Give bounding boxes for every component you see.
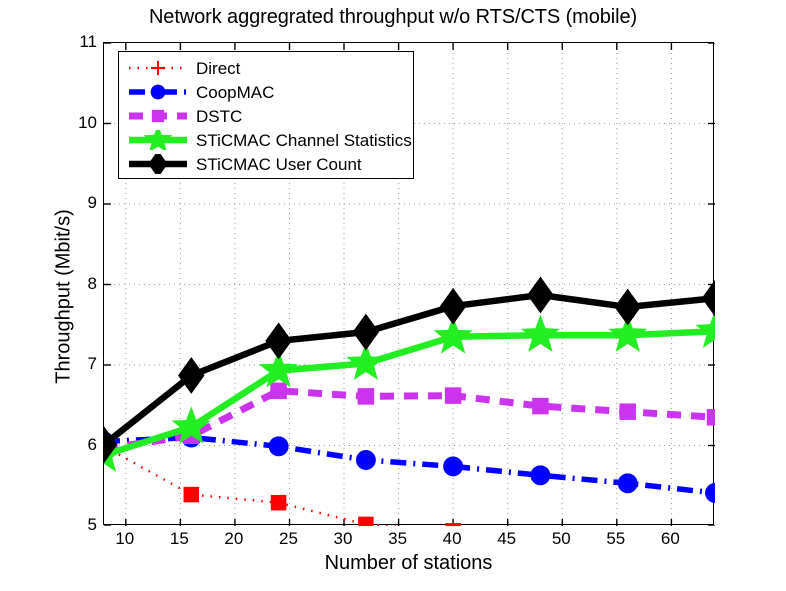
x-tick-label: 30 [323,529,363,548]
data-point-marker [149,154,167,174]
x-tick-label: 15 [159,529,199,548]
chart-legend: DirectCoopMACDSTCSTiCMAC Channel Statist… [118,51,414,179]
legend-label: STiCMAC User Count [196,156,362,173]
x-tick-label: 35 [378,529,418,548]
data-point-marker [441,289,466,323]
data-point-marker [446,388,461,403]
y-axis-tick-labels: 567891011 [57,42,97,525]
legend-line-sample [127,58,189,78]
data-point-marker [357,451,375,469]
x-tick-label: 40 [432,529,472,548]
legend-label: Direct [196,60,240,77]
legend-swatch [127,154,189,174]
data-point-marker [271,383,286,398]
data-point-marker [708,410,716,425]
legend-item-direct[interactable]: Direct [119,56,413,80]
data-point-marker [179,358,204,392]
data-point-marker [619,474,637,492]
x-tick-label: 10 [105,529,145,548]
legend-item-sticmac-user-count[interactable]: STiCMAC User Count [119,152,413,176]
legend-swatch [127,82,189,102]
data-point-marker [266,324,291,358]
data-point-marker [531,466,549,484]
x-tick-label: 60 [650,529,690,548]
data-point-marker [444,457,462,475]
data-point-marker [269,437,287,455]
legend-item-dstc[interactable]: DSTC [119,104,413,128]
y-tick-label: 11 [59,33,97,50]
x-tick-label: 45 [487,529,527,548]
legend-line-sample [127,106,189,126]
data-point-marker [523,317,558,350]
x-tick-label: 20 [214,529,254,548]
x-tick-label: 25 [269,529,309,548]
x-tick-label: 50 [541,529,581,548]
data-point-marker [151,61,165,75]
legend-item-sticmac-channel-statistics[interactable]: STiCMAC Channel Statistics [119,128,413,152]
legend-label: DSTC [196,108,242,125]
legend-line-sample [127,154,189,174]
data-point-marker [528,278,553,312]
y-tick-label: 5 [59,516,97,533]
legend-swatch [127,106,189,126]
data-point-marker [354,315,379,349]
data-point-marker [533,399,548,414]
x-axis-label: Number of stations [103,552,714,575]
data-point-marker [620,404,635,419]
x-tick-label: 55 [596,529,636,548]
legend-swatch [127,130,189,150]
chart-figure: Network aggregrated throughput w/o RTS/C… [0,0,786,591]
data-point-marker [358,389,373,404]
data-point-marker [703,281,715,315]
y-tick-label: 10 [59,114,97,131]
y-tick-label: 9 [59,194,97,211]
legend-label: CoopMAC [196,84,274,101]
legend-line-sample [127,82,189,102]
legend-line-sample [127,130,189,150]
chart-title: Network aggregrated throughput w/o RTS/C… [0,6,786,29]
data-point-marker [446,524,460,526]
y-tick-label: 7 [59,355,97,372]
data-point-marker [359,517,373,526]
legend-label: STiCMAC Channel Statistics [196,132,412,149]
data-point-marker [184,488,198,502]
y-tick-label: 8 [59,275,97,292]
legend-swatch [127,58,189,78]
data-point-marker [272,496,286,510]
data-point-marker [615,290,640,324]
data-point-marker [153,111,164,122]
data-point-marker [151,85,164,98]
series-sticmac-channel-statistics [104,313,715,470]
legend-item-coopmac[interactable]: CoopMAC [119,80,413,104]
data-point-marker [706,484,715,502]
y-tick-label: 6 [59,436,97,453]
